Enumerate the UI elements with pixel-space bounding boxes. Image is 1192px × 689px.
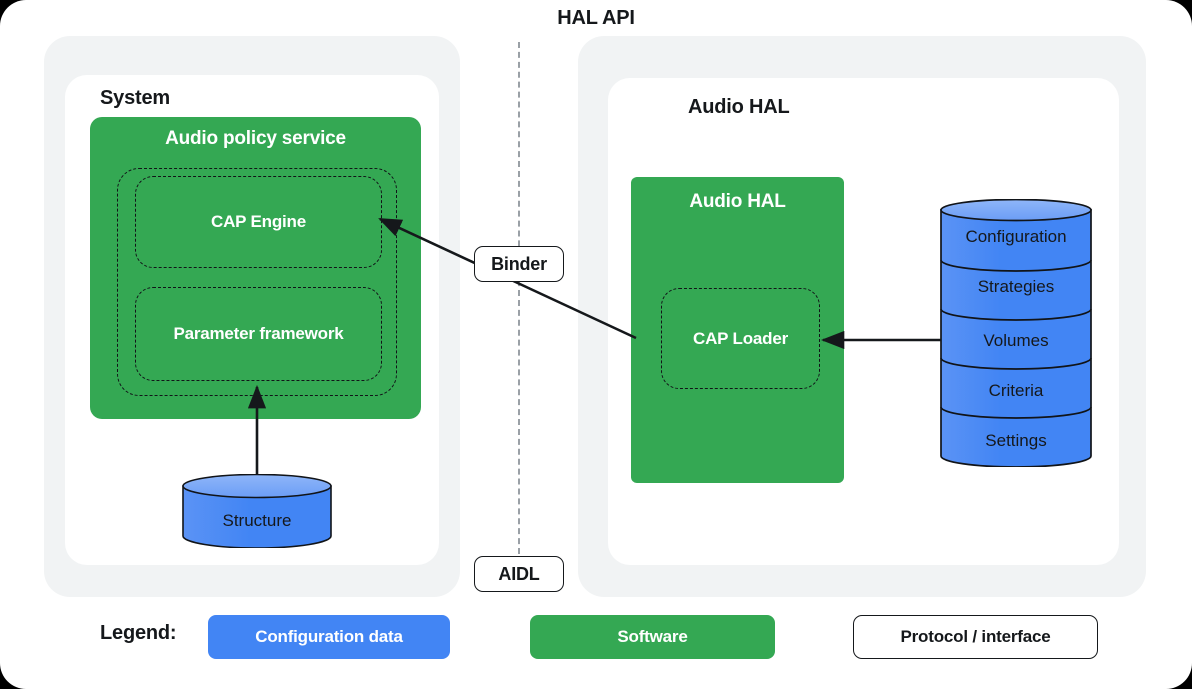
cap-engine-label: CAP Engine	[136, 212, 381, 232]
audio-policy-service-title: Audio policy service	[90, 128, 421, 150]
protocol-pill-binder[interactable]: Binder	[474, 246, 564, 282]
structure-datastore: Structure	[182, 474, 332, 548]
parameter-framework-label: Parameter framework	[136, 324, 381, 344]
audio-hal-panel-caption: Audio HAL	[688, 96, 790, 119]
structure-cylinder-icon	[182, 474, 332, 548]
stacked-cylinder-icon	[940, 199, 1092, 467]
hal-config-datastore: Configuration Strategies Volumes Criteri…	[940, 199, 1092, 467]
system-panel-caption: System	[100, 87, 170, 110]
parameter-framework-block: Parameter framework	[135, 287, 382, 381]
cap-loader-label: CAP Loader	[662, 329, 819, 349]
legend-item-software: Software	[530, 615, 775, 659]
legend-item-protocol-interface: Protocol / interface	[853, 615, 1098, 659]
cap-engine-block: CAP Engine	[135, 176, 382, 268]
legend-title: Legend:	[100, 622, 176, 645]
audio-hal-box-title: Audio HAL	[631, 191, 844, 213]
cap-loader-block: CAP Loader	[661, 288, 820, 389]
diagram-title: HAL API	[0, 7, 1192, 30]
diagram-canvas: HAL API System Audio policy service CAP …	[0, 0, 1192, 689]
legend-item-configuration-data: Configuration data	[208, 615, 450, 659]
hal-api-divider	[518, 42, 520, 554]
protocol-pill-aidl[interactable]: AIDL	[474, 556, 564, 592]
